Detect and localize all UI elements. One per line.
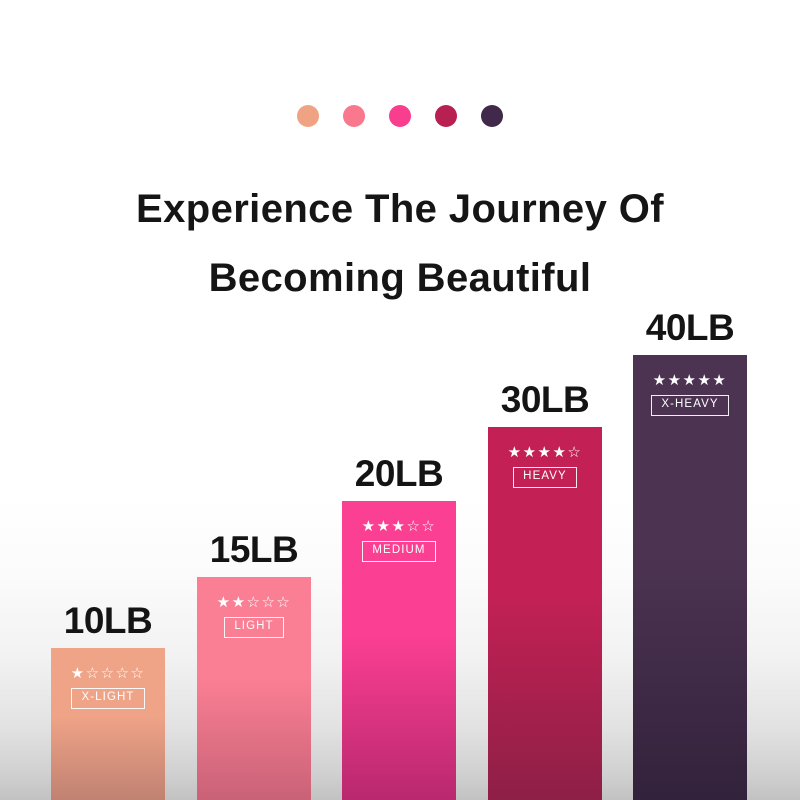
bar-rating-badge: ★★★★☆HEAVY <box>488 445 602 488</box>
level-tag: X-LIGHT <box>71 688 144 709</box>
level-tag: HEAVY <box>513 467 577 488</box>
bar-value-label: 20LB <box>355 453 443 495</box>
bar-fill: ★★☆☆☆LIGHT <box>197 577 311 800</box>
star-rating-icon: ★★☆☆☆ <box>217 595 292 610</box>
bar-value-label: 15LB <box>210 529 298 571</box>
resistance-bar-chart: 10LB★☆☆☆☆X-LIGHT15LB★★☆☆☆LIGHT20LB★★★☆☆M… <box>0 0 800 800</box>
bar-fill: ★★★★☆HEAVY <box>488 427 602 800</box>
level-tag: MEDIUM <box>362 541 435 562</box>
bar-10lb[interactable]: 10LB★☆☆☆☆X-LIGHT <box>51 648 165 800</box>
bar-value-label: 30LB <box>501 379 589 421</box>
star-rating-icon: ★★★★☆ <box>508 445 583 460</box>
bar-value-label: 10LB <box>64 600 152 642</box>
bar-fill: ★★★☆☆MEDIUM <box>342 501 456 800</box>
bar-value-label: 40LB <box>646 307 734 349</box>
bar-rating-badge: ★★☆☆☆LIGHT <box>197 595 311 638</box>
bar-20lb[interactable]: 20LB★★★☆☆MEDIUM <box>342 501 456 800</box>
star-rating-icon: ★☆☆☆☆ <box>71 666 146 681</box>
bar-15lb[interactable]: 15LB★★☆☆☆LIGHT <box>197 577 311 800</box>
bar-rating-badge: ★★★★★X-HEAVY <box>633 373 747 416</box>
star-rating-icon: ★★★★★ <box>653 373 728 388</box>
bar-fill: ★★★★★X-HEAVY <box>633 355 747 800</box>
bar-40lb[interactable]: 40LB★★★★★X-HEAVY <box>633 355 747 800</box>
level-tag: LIGHT <box>224 617 283 638</box>
bar-fill: ★☆☆☆☆X-LIGHT <box>51 648 165 800</box>
star-rating-icon: ★★★☆☆ <box>362 519 437 534</box>
level-tag: X-HEAVY <box>651 395 728 416</box>
bar-rating-badge: ★☆☆☆☆X-LIGHT <box>51 666 165 709</box>
bar-30lb[interactable]: 30LB★★★★☆HEAVY <box>488 427 602 800</box>
bar-rating-badge: ★★★☆☆MEDIUM <box>342 519 456 562</box>
infographic-poster: Experience The Journey Of Becoming Beaut… <box>0 0 800 800</box>
